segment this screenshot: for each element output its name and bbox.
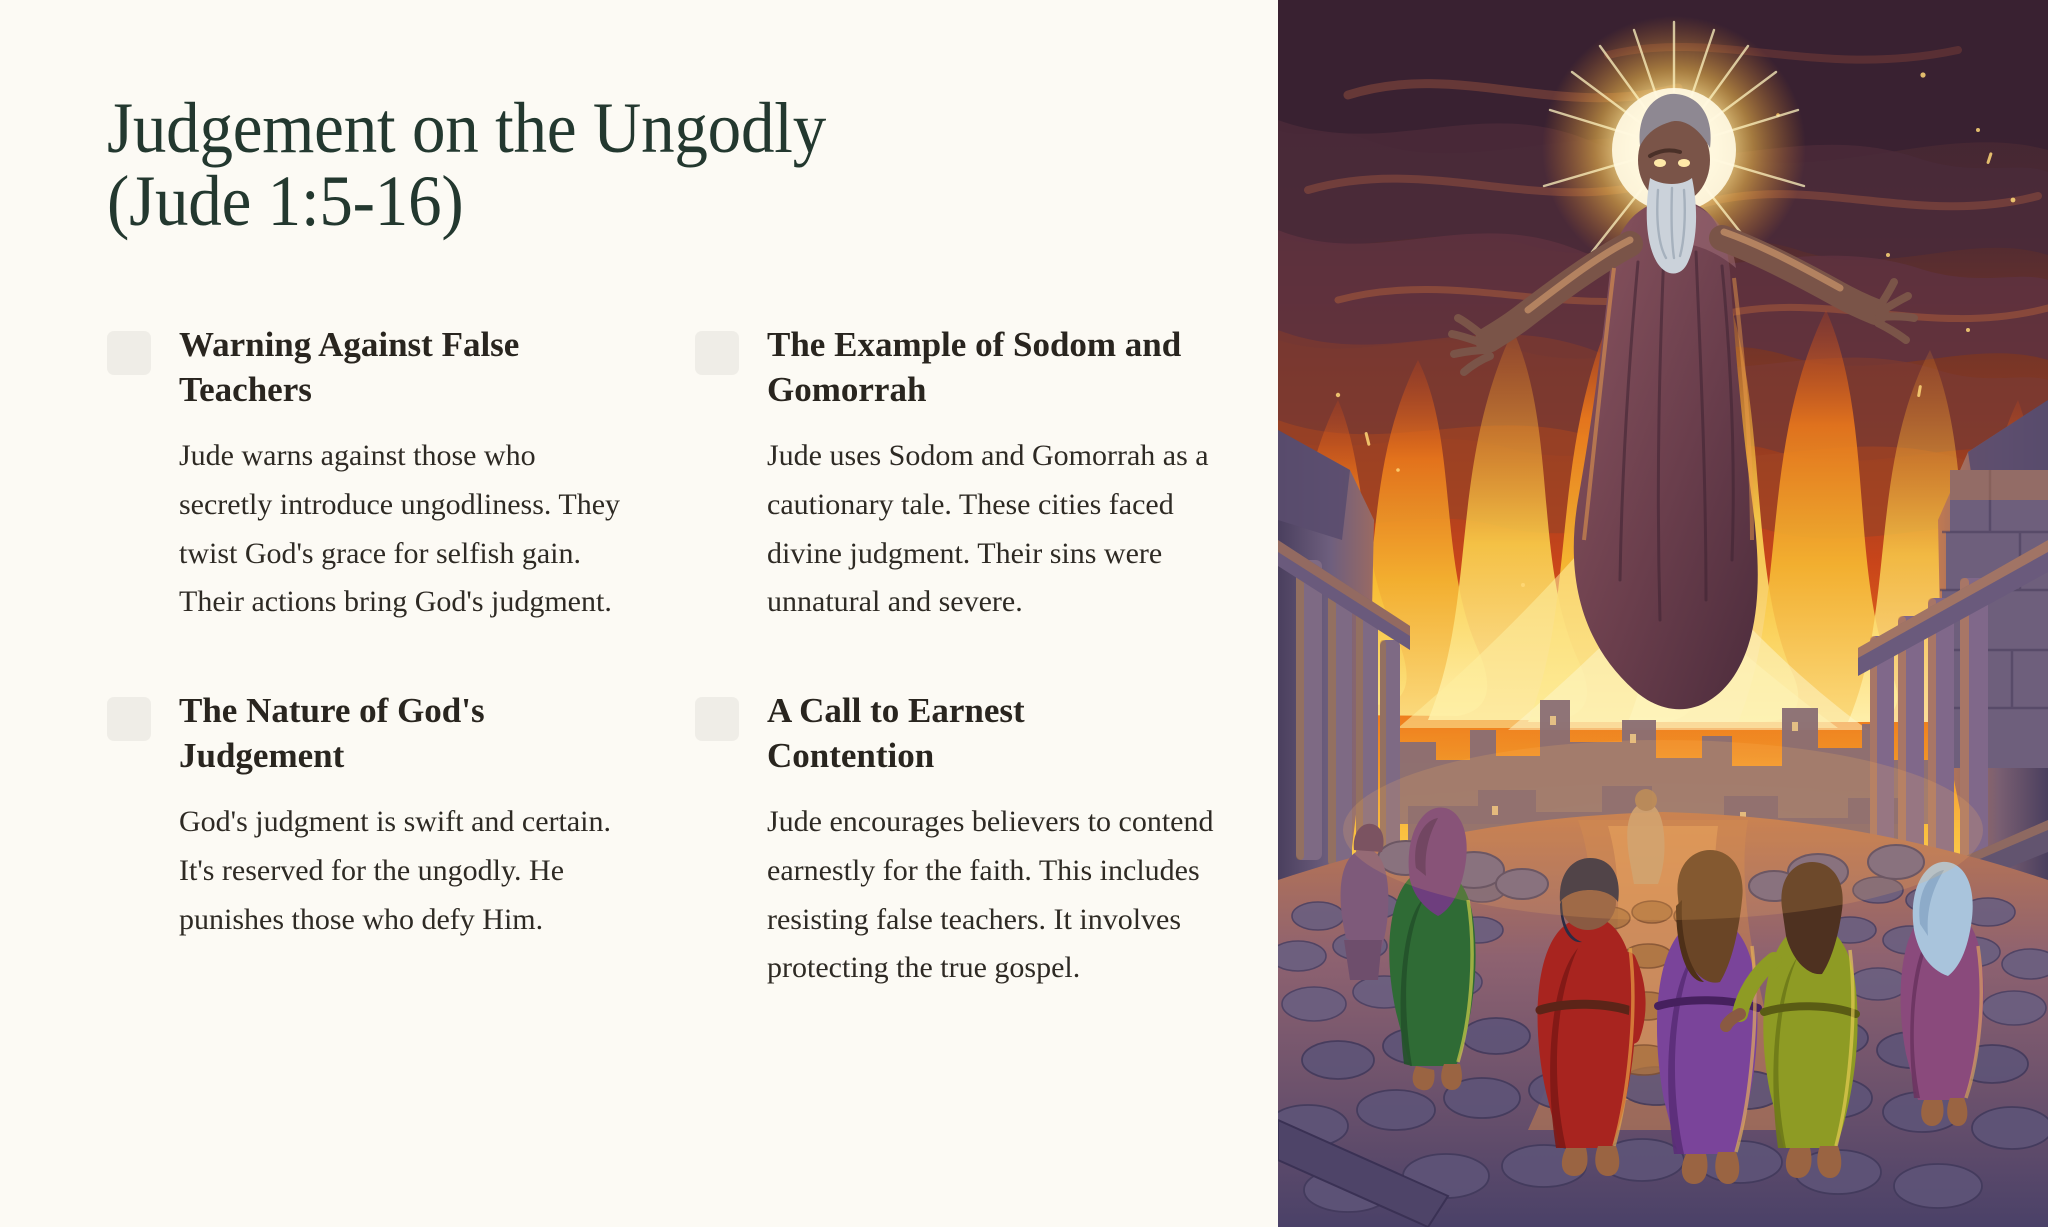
point-card-2-body: Jude uses Sodom and Gomorrah as a cautio…	[767, 432, 1217, 626]
page-title-line-2: (Jude 1:5-16)	[107, 161, 463, 241]
slide-root: Judgement on the Ungodly (Jude 1:5-16) W…	[0, 0, 2048, 1227]
bullet-square-marker-icon	[695, 697, 739, 741]
bullet-square-marker-icon	[107, 331, 151, 375]
figure-eye-right	[1678, 159, 1690, 167]
point-card-1[interactable]: Warning Against False Teachers Jude warn…	[107, 323, 677, 627]
point-card-3-title: The Nature of God's Judgement	[179, 689, 609, 779]
point-card-4[interactable]: A Call to Earnest Contention Jude encour…	[695, 689, 1265, 993]
point-card-1-body: Jude warns against those who secretly in…	[179, 432, 629, 626]
content-pane: Judgement on the Ungodly (Jude 1:5-16) W…	[0, 0, 1278, 1227]
point-card-4-title: A Call to Earnest Contention	[767, 689, 1197, 779]
figure-eye-left	[1654, 159, 1666, 167]
illustration-canvas	[1278, 0, 2048, 1227]
page-title-line-1: Judgement on the Ungodly	[107, 88, 826, 168]
horizon-glow	[1343, 740, 1983, 920]
point-card-3-body: God's judgment is swift and certain. It'…	[179, 798, 629, 944]
page-title: Judgement on the Ungodly (Jude 1:5-16)	[107, 92, 1028, 239]
point-card-2-title: The Example of Sodom and Gomorrah	[767, 323, 1197, 413]
bullet-square-marker-icon	[107, 697, 151, 741]
point-card-1-head: Warning Against False Teachers	[107, 323, 677, 413]
bullet-square-marker-icon	[695, 331, 739, 375]
point-card-3-head: The Nature of God's Judgement	[107, 689, 677, 779]
point-card-1-title: Warning Against False Teachers	[179, 323, 609, 413]
point-card-3[interactable]: The Nature of God's Judgement God's judg…	[107, 689, 677, 993]
point-card-4-head: A Call to Earnest Contention	[695, 689, 1265, 779]
point-card-2-head: The Example of Sodom and Gomorrah	[695, 323, 1265, 413]
divine-judgement-illustration	[1278, 0, 2048, 1227]
point-card-2[interactable]: The Example of Sodom and Gomorrah Jude u…	[695, 323, 1265, 627]
point-card-4-body: Jude encourages believers to contend ear…	[767, 798, 1217, 992]
points-grid: Warning Against False Teachers Jude warn…	[107, 323, 1265, 993]
